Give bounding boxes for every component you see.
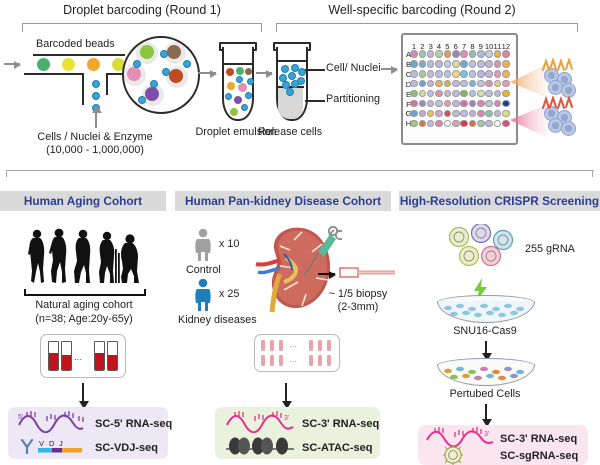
emulsion-cell-7 xyxy=(230,108,238,116)
svg-text:3': 3' xyxy=(484,431,489,438)
plate-well-C1[interactable] xyxy=(410,70,418,78)
barcoded-beads-label: Barcoded beads xyxy=(36,38,115,50)
svg-text:D: D xyxy=(49,439,55,448)
plate-well-A4[interactable] xyxy=(435,50,443,58)
plate-well-H4[interactable] xyxy=(435,120,443,128)
dish1-cells xyxy=(442,302,528,318)
svg-text:5': 5' xyxy=(18,414,23,421)
crispr-assay-1-label: SC-3' RNA-seq xyxy=(500,433,577,445)
input-label-line2: (10,000 - 1,000,000) xyxy=(46,144,144,156)
cell-nuclei-leader xyxy=(305,69,325,71)
figure-canvas: Droplet barcoding (Round 1) Barcoded bea… xyxy=(0,0,600,465)
droplet-satellite-3 xyxy=(162,68,170,76)
plate-well-C9[interactable] xyxy=(477,70,485,78)
strip-1 xyxy=(261,340,265,351)
plate-well-B4[interactable] xyxy=(435,60,443,68)
aging-assay-2-label: SC-VDJ-seq xyxy=(95,442,158,454)
section-divider xyxy=(6,170,594,171)
plate-well-B8[interactable] xyxy=(469,60,477,68)
input-cell-2 xyxy=(92,92,100,100)
plate-well-F4[interactable] xyxy=(435,100,443,108)
aging-bracket xyxy=(24,289,146,296)
strip-6 xyxy=(327,340,331,351)
aging-down-arrow xyxy=(82,383,84,401)
droplet-b-cell xyxy=(167,45,181,59)
disease-count: x 25 xyxy=(219,288,239,300)
plate-well-B9[interactable] xyxy=(477,60,485,68)
plate-well-F7[interactable] xyxy=(460,100,468,108)
droplet-satellite-5 xyxy=(183,60,191,68)
plate-well-B2[interactable] xyxy=(419,60,427,68)
aging-cohort-label-1: Natural aging cohort xyxy=(35,299,132,311)
emulsion-cell-4 xyxy=(227,82,235,90)
plate-well-C7[interactable] xyxy=(460,70,468,78)
plate-well-H7[interactable] xyxy=(460,120,468,128)
release-cell-8 xyxy=(291,80,299,88)
droplet-e-cell xyxy=(145,87,159,101)
strip-11 xyxy=(318,355,322,366)
biopsy-core-icon xyxy=(339,264,397,282)
panel-header-crispr: High-Resolution CRISPR Screening xyxy=(399,191,600,211)
nucleosome-icon xyxy=(224,436,296,456)
plate-well-E6[interactable] xyxy=(452,90,460,98)
panel-header-kidney: Human Pan-kidney Disease Cohort xyxy=(175,191,391,211)
plate-well-B6[interactable] xyxy=(452,60,460,68)
plate-well-C5[interactable] xyxy=(444,70,452,78)
droplet-c-cell xyxy=(127,67,141,81)
crispr-down-arrow xyxy=(485,404,487,419)
dish2-cells xyxy=(442,365,528,381)
plate-well-G4[interactable] xyxy=(435,110,443,118)
plate-well-E9[interactable] xyxy=(477,90,485,98)
kidney-assay-2-label: SC-ATAC-seq xyxy=(302,442,372,454)
plate-well-H1[interactable] xyxy=(410,120,418,128)
plate-well-A9[interactable] xyxy=(477,50,485,58)
droplet-satellite-1 xyxy=(133,60,141,68)
release-cell-9 xyxy=(286,88,294,96)
section-divider-tick-left xyxy=(6,170,7,177)
plate-well-C4[interactable] xyxy=(435,70,443,78)
emulsion-droplet-1 xyxy=(236,76,243,83)
channel-vertical-right xyxy=(106,73,108,95)
aging-cohort-label-2: (n=38; Age:20y-65y) xyxy=(35,313,133,325)
plate-well-A12[interactable] xyxy=(502,50,510,58)
kidney-assay-1-label: SC-3' RNA-seq xyxy=(302,418,379,430)
strip-10 xyxy=(309,355,313,366)
input-arrow xyxy=(95,113,97,128)
aging-people-silhouettes xyxy=(26,227,144,289)
blood-tube-2 xyxy=(61,341,72,371)
plate-well-G1[interactable] xyxy=(410,110,418,118)
plate-well-G6[interactable] xyxy=(452,110,460,118)
blood-sample-ellipsis: ... xyxy=(74,353,82,364)
antibody-vdj-icon: V D J xyxy=(18,436,88,456)
strip-2 xyxy=(270,340,274,351)
plate-well-C11[interactable] xyxy=(494,70,502,78)
plate-well-F1[interactable] xyxy=(410,100,418,108)
plate-well-E1[interactable] xyxy=(410,90,418,98)
plate-well-G10[interactable] xyxy=(485,110,493,118)
release-cell-1 xyxy=(281,65,289,73)
partitioning-leader xyxy=(305,100,325,102)
strip-7 xyxy=(261,355,265,366)
round2-bracket xyxy=(276,23,578,32)
plate-well-A6[interactable] xyxy=(452,50,460,58)
bead-1 xyxy=(37,58,50,71)
to-emulsion-arrow xyxy=(198,72,216,74)
emulsion-cell-6 xyxy=(234,96,242,104)
plate-well-H6[interactable] xyxy=(452,120,460,128)
emulsion-cell-2 xyxy=(236,67,244,75)
plate-well-D6[interactable] xyxy=(452,80,460,88)
cellline-label: SNU16-Cas9 xyxy=(453,325,517,337)
plate-well-C8[interactable] xyxy=(469,70,477,78)
plate-well-D9[interactable] xyxy=(477,80,485,88)
plate-well-A1[interactable] xyxy=(410,50,418,58)
plate-well-A10[interactable] xyxy=(485,50,493,58)
emulsion-droplet-5 xyxy=(241,104,248,111)
plate-well-G9[interactable] xyxy=(477,110,485,118)
plate-well-B7[interactable] xyxy=(460,60,468,68)
biopsy-label-1: ~ 1/5 biopsy xyxy=(329,288,388,300)
rna-wave-icon: 5' xyxy=(16,411,86,433)
strip-5 xyxy=(318,340,322,351)
strip-4 xyxy=(309,340,313,351)
input-label-line1: Cells / Nuclei & Enzyme xyxy=(37,131,152,143)
emulsion-droplet-2 xyxy=(247,78,254,85)
disease-label: Kidney diseases xyxy=(178,314,257,326)
to-release-arrow xyxy=(256,72,272,74)
svg-text:J: J xyxy=(59,439,63,448)
barcode-squiggle-red-icon xyxy=(541,96,577,110)
emulsion-cell-5 xyxy=(238,83,247,92)
release-label: Release cells xyxy=(258,126,322,138)
blood-tube-4 xyxy=(107,341,118,371)
grna-label: 255 gRNA xyxy=(525,243,575,255)
biopsy-label-2: (2-3mm) xyxy=(338,301,379,313)
plate-well-B5[interactable] xyxy=(444,60,452,68)
emulsion-droplet-3 xyxy=(225,93,232,100)
control-person-icon xyxy=(192,228,214,262)
strip-9 xyxy=(279,355,283,366)
plate-well-C10[interactable] xyxy=(485,70,493,78)
blood-tube-1 xyxy=(48,341,59,371)
plate-well-C2[interactable] xyxy=(419,70,427,78)
to-plate-arrow xyxy=(381,68,397,70)
bead-3 xyxy=(87,58,100,71)
strip-3 xyxy=(279,340,283,351)
round1-title: Droplet barcoding (Round 1) xyxy=(63,3,221,17)
svg-text:3': 3' xyxy=(284,415,289,422)
droplet-satellite-4 xyxy=(150,80,158,88)
plate-well-C3[interactable] xyxy=(427,70,435,78)
plate-well-A5[interactable] xyxy=(444,50,452,58)
inflow-arrow xyxy=(4,63,20,65)
disease-person-icon xyxy=(192,278,214,312)
aging-assay-1-label: SC-5' RNA-seq xyxy=(95,418,172,430)
plate-well-A11[interactable] xyxy=(494,50,502,58)
plate-well-B10[interactable] xyxy=(485,60,493,68)
input-cell-1 xyxy=(92,80,100,88)
grna-virus-cluster-icon xyxy=(445,224,517,278)
biopsy-arrow xyxy=(318,273,335,275)
round1-bracket xyxy=(22,23,262,32)
plate-well-H10[interactable] xyxy=(485,120,493,128)
crispr-assay-2-label: SC-sgRNA-seq xyxy=(500,450,578,462)
blood-tube-3 xyxy=(94,341,105,371)
svg-text:V: V xyxy=(39,439,44,448)
strip-ellipsis-bottom: ... xyxy=(289,355,297,366)
emulsion-droplet-4 xyxy=(245,92,252,99)
plate-well-F9[interactable] xyxy=(477,100,485,108)
plate-well-F10[interactable] xyxy=(485,100,493,108)
strip-12 xyxy=(327,355,331,366)
droplet-a-cell xyxy=(140,45,154,59)
section-divider-tick-right xyxy=(592,170,593,177)
panel-header-aging: Human Aging Cohort xyxy=(0,191,166,211)
control-label: Control xyxy=(186,264,221,276)
droplet-satellite-6 xyxy=(138,96,146,104)
plate-well-F6[interactable] xyxy=(452,100,460,108)
bead-2 xyxy=(62,58,75,71)
plate-well-A8[interactable] xyxy=(469,50,477,58)
plate-well-H9[interactable] xyxy=(477,120,485,128)
virus-capsid-icon xyxy=(438,445,468,465)
emulsion-cell-1 xyxy=(226,68,234,76)
release-tube-liquid-line xyxy=(276,60,308,62)
plate-well-A7[interactable] xyxy=(460,50,468,58)
channel-bottom-left xyxy=(24,73,84,75)
output-cell-b4 xyxy=(561,121,576,136)
control-count: x 10 xyxy=(219,238,239,250)
emulsion-tube-liquid-line xyxy=(222,63,254,65)
channel-top-wall xyxy=(33,54,125,56)
channel-vertical-left xyxy=(82,73,84,105)
release-cell-5 xyxy=(288,72,296,80)
droplet-d-cell xyxy=(169,69,183,83)
partitioning-label: Partitioning xyxy=(326,93,380,105)
cell-nuclei-label: Cell/ Nuclei xyxy=(326,62,381,74)
plate-well-B11[interactable] xyxy=(494,60,502,68)
plate-well-G7[interactable] xyxy=(460,110,468,118)
kidney-down-arrow xyxy=(285,383,287,401)
perturbed-label: Pertubed Cells xyxy=(450,388,521,400)
rna-wave-icon: 3' xyxy=(224,411,296,433)
barcode-squiggle-orange-icon xyxy=(541,58,577,72)
rna-wave-icon: 3' xyxy=(424,427,496,447)
strip-ellipsis-top: ... xyxy=(289,340,297,351)
emulsion-cell-3 xyxy=(245,68,252,75)
round2-title: Well-specific barcoding (Round 2) xyxy=(328,3,515,17)
plate-well-A2[interactable] xyxy=(419,50,427,58)
crispr-mid-arrow xyxy=(485,341,487,353)
droplet-satellite-2 xyxy=(160,50,168,58)
strip-8 xyxy=(270,355,274,366)
plate-well-C6[interactable] xyxy=(452,70,460,78)
plate-well-B1[interactable] xyxy=(410,60,418,68)
